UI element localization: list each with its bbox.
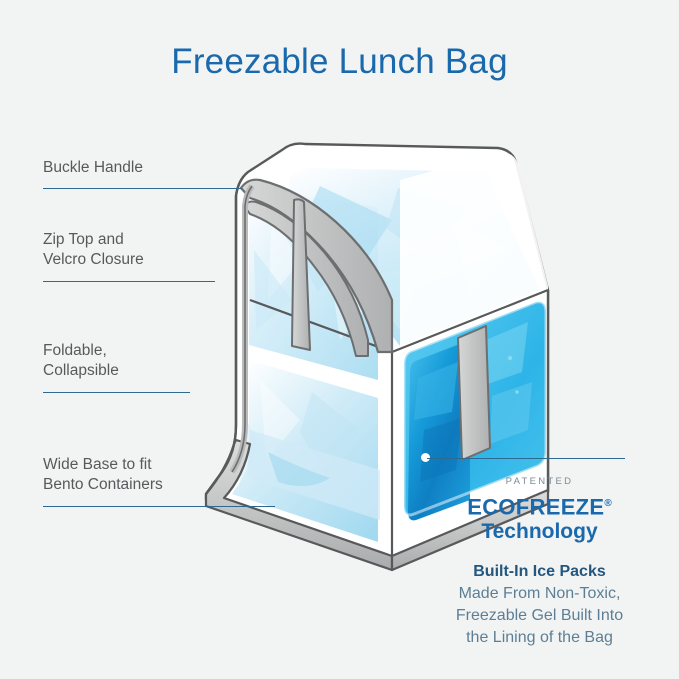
brand-headline: Built-In Ice Packs [400, 561, 679, 583]
callout-rule-foldable-collapsible [43, 392, 190, 393]
bag-left-edge-line [232, 186, 252, 472]
bag-outer-edge [206, 172, 548, 494]
ecofreeze-wordmark: ECOFREEZE® [400, 492, 679, 519]
callout-buckle-handle-label: Buckle Handle [43, 158, 143, 178]
callout-foldable-collapsible: Foldable, Collapsible [43, 341, 119, 381]
product-feature-diagram: Freezable Lunch Bag [0, 0, 679, 679]
callout-zip-top-line-1: Zip Top and [43, 230, 144, 250]
callout-wide-base: Wide Base to fit Bento Containers [43, 455, 163, 495]
lid-white-face [400, 152, 548, 348]
registered-trademark-icon: ® [604, 498, 611, 509]
callout-zip-top-velcro: Zip Top and Velcro Closure [43, 230, 144, 270]
callout-wide-base-line-1: Wide Base to fit [43, 455, 163, 475]
callout-foldable-line-2: Collapsible [43, 361, 119, 381]
ice-panel-lid [290, 168, 540, 346]
callout-rule-buckle-handle [43, 188, 242, 189]
ice-panel-front-upper [249, 192, 378, 380]
callout-rule-ecofreeze [427, 458, 625, 459]
ecofreeze-name: ECOFREEZE [467, 494, 604, 519]
callout-rule-zip-top-velcro [43, 281, 215, 282]
buckle-handle-straps [241, 180, 490, 460]
callout-foldable-line-1: Foldable, [43, 341, 119, 361]
callout-rule-wide-base [43, 506, 275, 507]
patented-label: PATENTED [400, 476, 679, 487]
callout-buckle-handle: Buckle Handle [43, 158, 143, 178]
brand-subline-1: Made From Non-Toxic, [400, 583, 679, 605]
brand-subline-2: Freezable Gel Built Into [400, 605, 679, 627]
bag-left-edge-highlight [232, 186, 252, 472]
brand-subline-3: the Lining of the Bag [400, 627, 679, 649]
callout-zip-top-line-2: Velcro Closure [43, 250, 144, 270]
ecofreeze-brand-block: PATENTED ECOFREEZE® Technology Built-In … [400, 476, 679, 649]
technology-label: Technology [400, 519, 679, 545]
callout-wide-base-line-2: Bento Containers [43, 475, 163, 495]
page-title: Freezable Lunch Bag [0, 42, 679, 82]
ice-panel-front-lower [232, 360, 378, 542]
